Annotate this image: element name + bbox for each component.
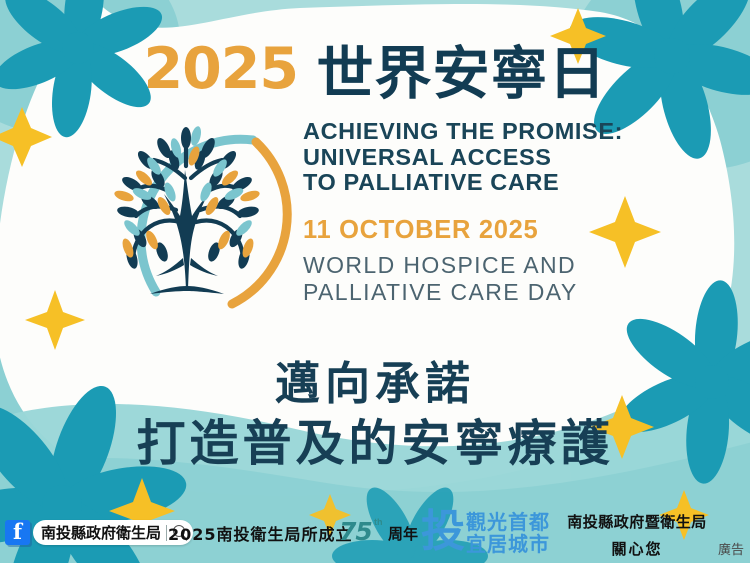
english-theme-line-1: ACHIEVING THE PROMISE: <box>303 119 623 145</box>
anniversary-number: 75 <box>339 517 372 546</box>
english-theme-line-2: UNIVERSAL ACCESS <box>303 145 623 171</box>
english-theme-block: ACHIEVING THE PROMISE: UNIVERSAL ACCESS … <box>303 119 623 196</box>
slogan-line-2: 打造普及的安寧療護 <box>0 404 750 475</box>
title-chinese: 世界安寧日 <box>317 41 607 107</box>
city-slogan-line-2: 宜居城市 <box>466 533 550 555</box>
poster-title: 2025 世界安寧日 <box>0 28 750 110</box>
english-subtitle-line-1: WORLD HOSPICE AND <box>303 252 578 279</box>
established-text: 2025南投衛生局所成立 <box>168 521 353 545</box>
government-credit-block: 南投縣政府暨衛生局 關心您 <box>562 511 712 559</box>
title-year: 2025 <box>143 36 298 102</box>
search-input-text[interactable]: 南投縣政府衛生局 <box>41 522 161 543</box>
facebook-search-group[interactable]: f 南投縣政府衛生局 <box>5 519 193 546</box>
government-line-2: 關心您 <box>562 538 712 559</box>
city-logo-character: 投 <box>421 509 463 555</box>
facebook-icon[interactable]: f <box>5 520 30 545</box>
english-subtitle-line-2: PALLIATIVE CARE DAY <box>303 279 578 306</box>
anniversary-badge: 75 th <box>339 513 387 547</box>
event-date: 11 OCTOBER 2025 <box>303 216 538 245</box>
government-line-1: 南投縣政府暨衛生局 <box>562 511 712 532</box>
city-slogan-line-1: 觀光首都 <box>466 511 550 533</box>
english-subtitle-block: WORLD HOSPICE AND PALLIATIVE CARE DAY <box>303 252 578 306</box>
poster-canvas: 2025 世界安寧日 ACHIEVING THE PROMISE: UNIVER… <box>0 0 750 563</box>
anniversary-label: 周年 <box>388 523 418 544</box>
ad-label: 廣告 <box>718 539 744 558</box>
slogan-line-1: 邁向承諾 <box>0 347 750 412</box>
city-slogan-block: 觀光首都 宜居城市 <box>466 511 550 555</box>
search-divider <box>166 525 167 541</box>
anniversary-ordinal: th <box>374 517 383 527</box>
english-theme-line-3: TO PALLIATIVE CARE <box>303 170 623 196</box>
